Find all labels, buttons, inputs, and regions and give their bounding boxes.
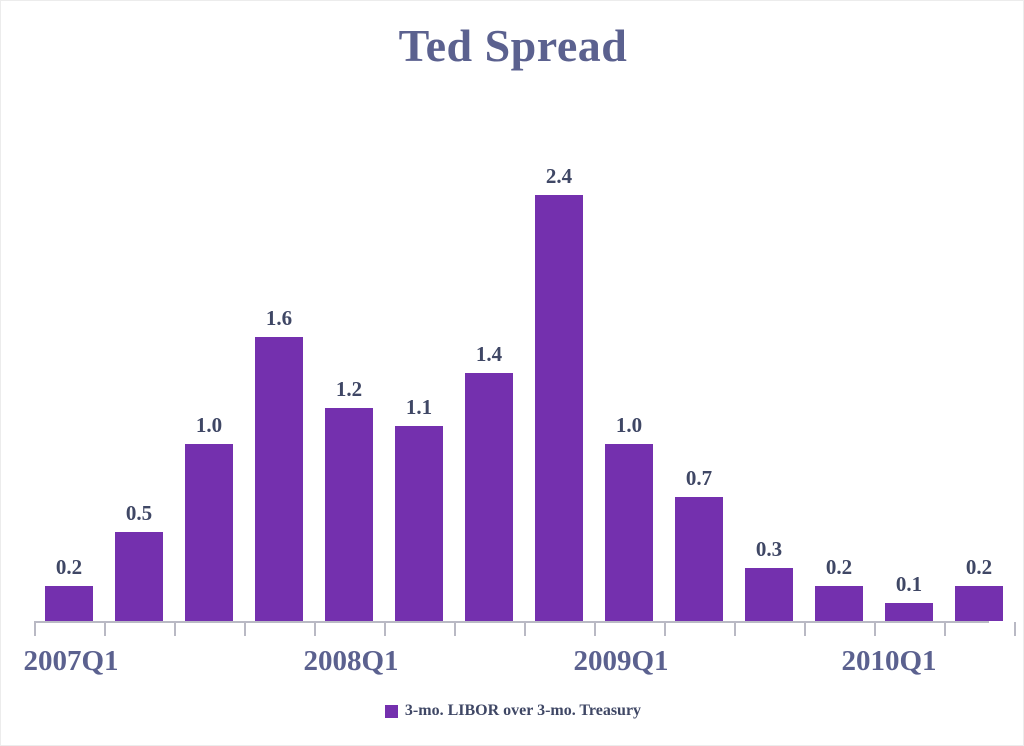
x-axis-tick bbox=[34, 622, 36, 636]
legend-swatch-icon bbox=[385, 705, 398, 718]
x-axis-tick bbox=[104, 622, 106, 636]
bar-slot: 0.2 bbox=[944, 101, 1014, 621]
x-axis-tick bbox=[244, 622, 246, 636]
x-axis-tick bbox=[594, 622, 596, 636]
x-axis-tick bbox=[314, 622, 316, 636]
bar-value-label: 0.2 bbox=[804, 557, 874, 578]
x-axis-tick bbox=[1014, 622, 1016, 636]
bar-value-label: 1.2 bbox=[314, 379, 384, 400]
bar-slot: 2.4 bbox=[524, 101, 594, 621]
plot-area: 0.20.51.01.61.21.11.42.41.00.70.30.20.10… bbox=[34, 101, 989, 621]
bar-value-label: 0.5 bbox=[104, 503, 174, 524]
x-axis-tick bbox=[454, 622, 456, 636]
bar-value-label: 0.7 bbox=[664, 468, 734, 489]
bar-value-label: 1.6 bbox=[244, 308, 314, 329]
bar[interactable] bbox=[185, 444, 233, 622]
bar[interactable] bbox=[675, 497, 723, 621]
bar-value-label: 1.4 bbox=[454, 344, 524, 365]
x-axis-label-2007q1: 2007Q1 bbox=[11, 645, 131, 678]
bar-value-label: 1.0 bbox=[594, 415, 664, 436]
x-axis-tick bbox=[944, 622, 946, 636]
bar-slot: 0.5 bbox=[104, 101, 174, 621]
bar[interactable] bbox=[955, 586, 1003, 622]
bar-value-label: 0.3 bbox=[734, 539, 804, 560]
legend-label: 3-mo. LIBOR over 3-mo. Treasury bbox=[405, 702, 641, 720]
x-axis-label-2008q1: 2008Q1 bbox=[291, 645, 411, 678]
x-axis-label-2010q1: 2010Q1 bbox=[829, 645, 949, 678]
bar[interactable] bbox=[535, 195, 583, 621]
bar[interactable] bbox=[395, 426, 443, 621]
x-axis-tick bbox=[874, 622, 876, 636]
bar-slot: 1.2 bbox=[314, 101, 384, 621]
page-title: Ted Spread bbox=[1, 19, 1024, 72]
bar[interactable] bbox=[885, 603, 933, 621]
bar-value-label: 0.1 bbox=[874, 574, 944, 595]
bar[interactable] bbox=[815, 586, 863, 622]
bar[interactable] bbox=[465, 373, 513, 622]
bar-value-label: 2.4 bbox=[524, 166, 594, 187]
x-axis-tick bbox=[734, 622, 736, 636]
chart-legend: 3-mo. LIBOR over 3-mo. Treasury bbox=[1, 702, 1024, 720]
x-axis-tick bbox=[384, 622, 386, 636]
bar-slot: 1.1 bbox=[384, 101, 454, 621]
x-axis-tick bbox=[664, 622, 666, 636]
bar[interactable] bbox=[45, 586, 93, 622]
bar[interactable] bbox=[325, 408, 373, 621]
bar-slot: 1.0 bbox=[174, 101, 244, 621]
bar-slot: 1.0 bbox=[594, 101, 664, 621]
bar-slot: 1.4 bbox=[454, 101, 524, 621]
bar-slot: 1.6 bbox=[244, 101, 314, 621]
bar[interactable] bbox=[605, 444, 653, 622]
bar-slot: 0.2 bbox=[34, 101, 104, 621]
bar-slot: 0.1 bbox=[874, 101, 944, 621]
x-axis-line bbox=[34, 621, 989, 623]
bar-value-label: 0.2 bbox=[34, 557, 104, 578]
bar-value-label: 1.1 bbox=[384, 397, 454, 418]
bar[interactable] bbox=[745, 568, 793, 621]
x-axis-tick bbox=[804, 622, 806, 636]
bar-slot: 0.2 bbox=[804, 101, 874, 621]
x-axis-label-2009q1: 2009Q1 bbox=[561, 645, 681, 678]
x-axis-tick bbox=[174, 622, 176, 636]
bar[interactable] bbox=[115, 532, 163, 621]
bar-value-label: 1.0 bbox=[174, 415, 244, 436]
bar-slot: 0.3 bbox=[734, 101, 804, 621]
chart-page: Ted Spread 0.20.51.01.61.21.11.42.41.00.… bbox=[0, 0, 1024, 746]
x-axis-tick bbox=[524, 622, 526, 636]
bar-value-label: 0.2 bbox=[944, 557, 1014, 578]
bar-slot: 0.7 bbox=[664, 101, 734, 621]
bar[interactable] bbox=[255, 337, 303, 621]
